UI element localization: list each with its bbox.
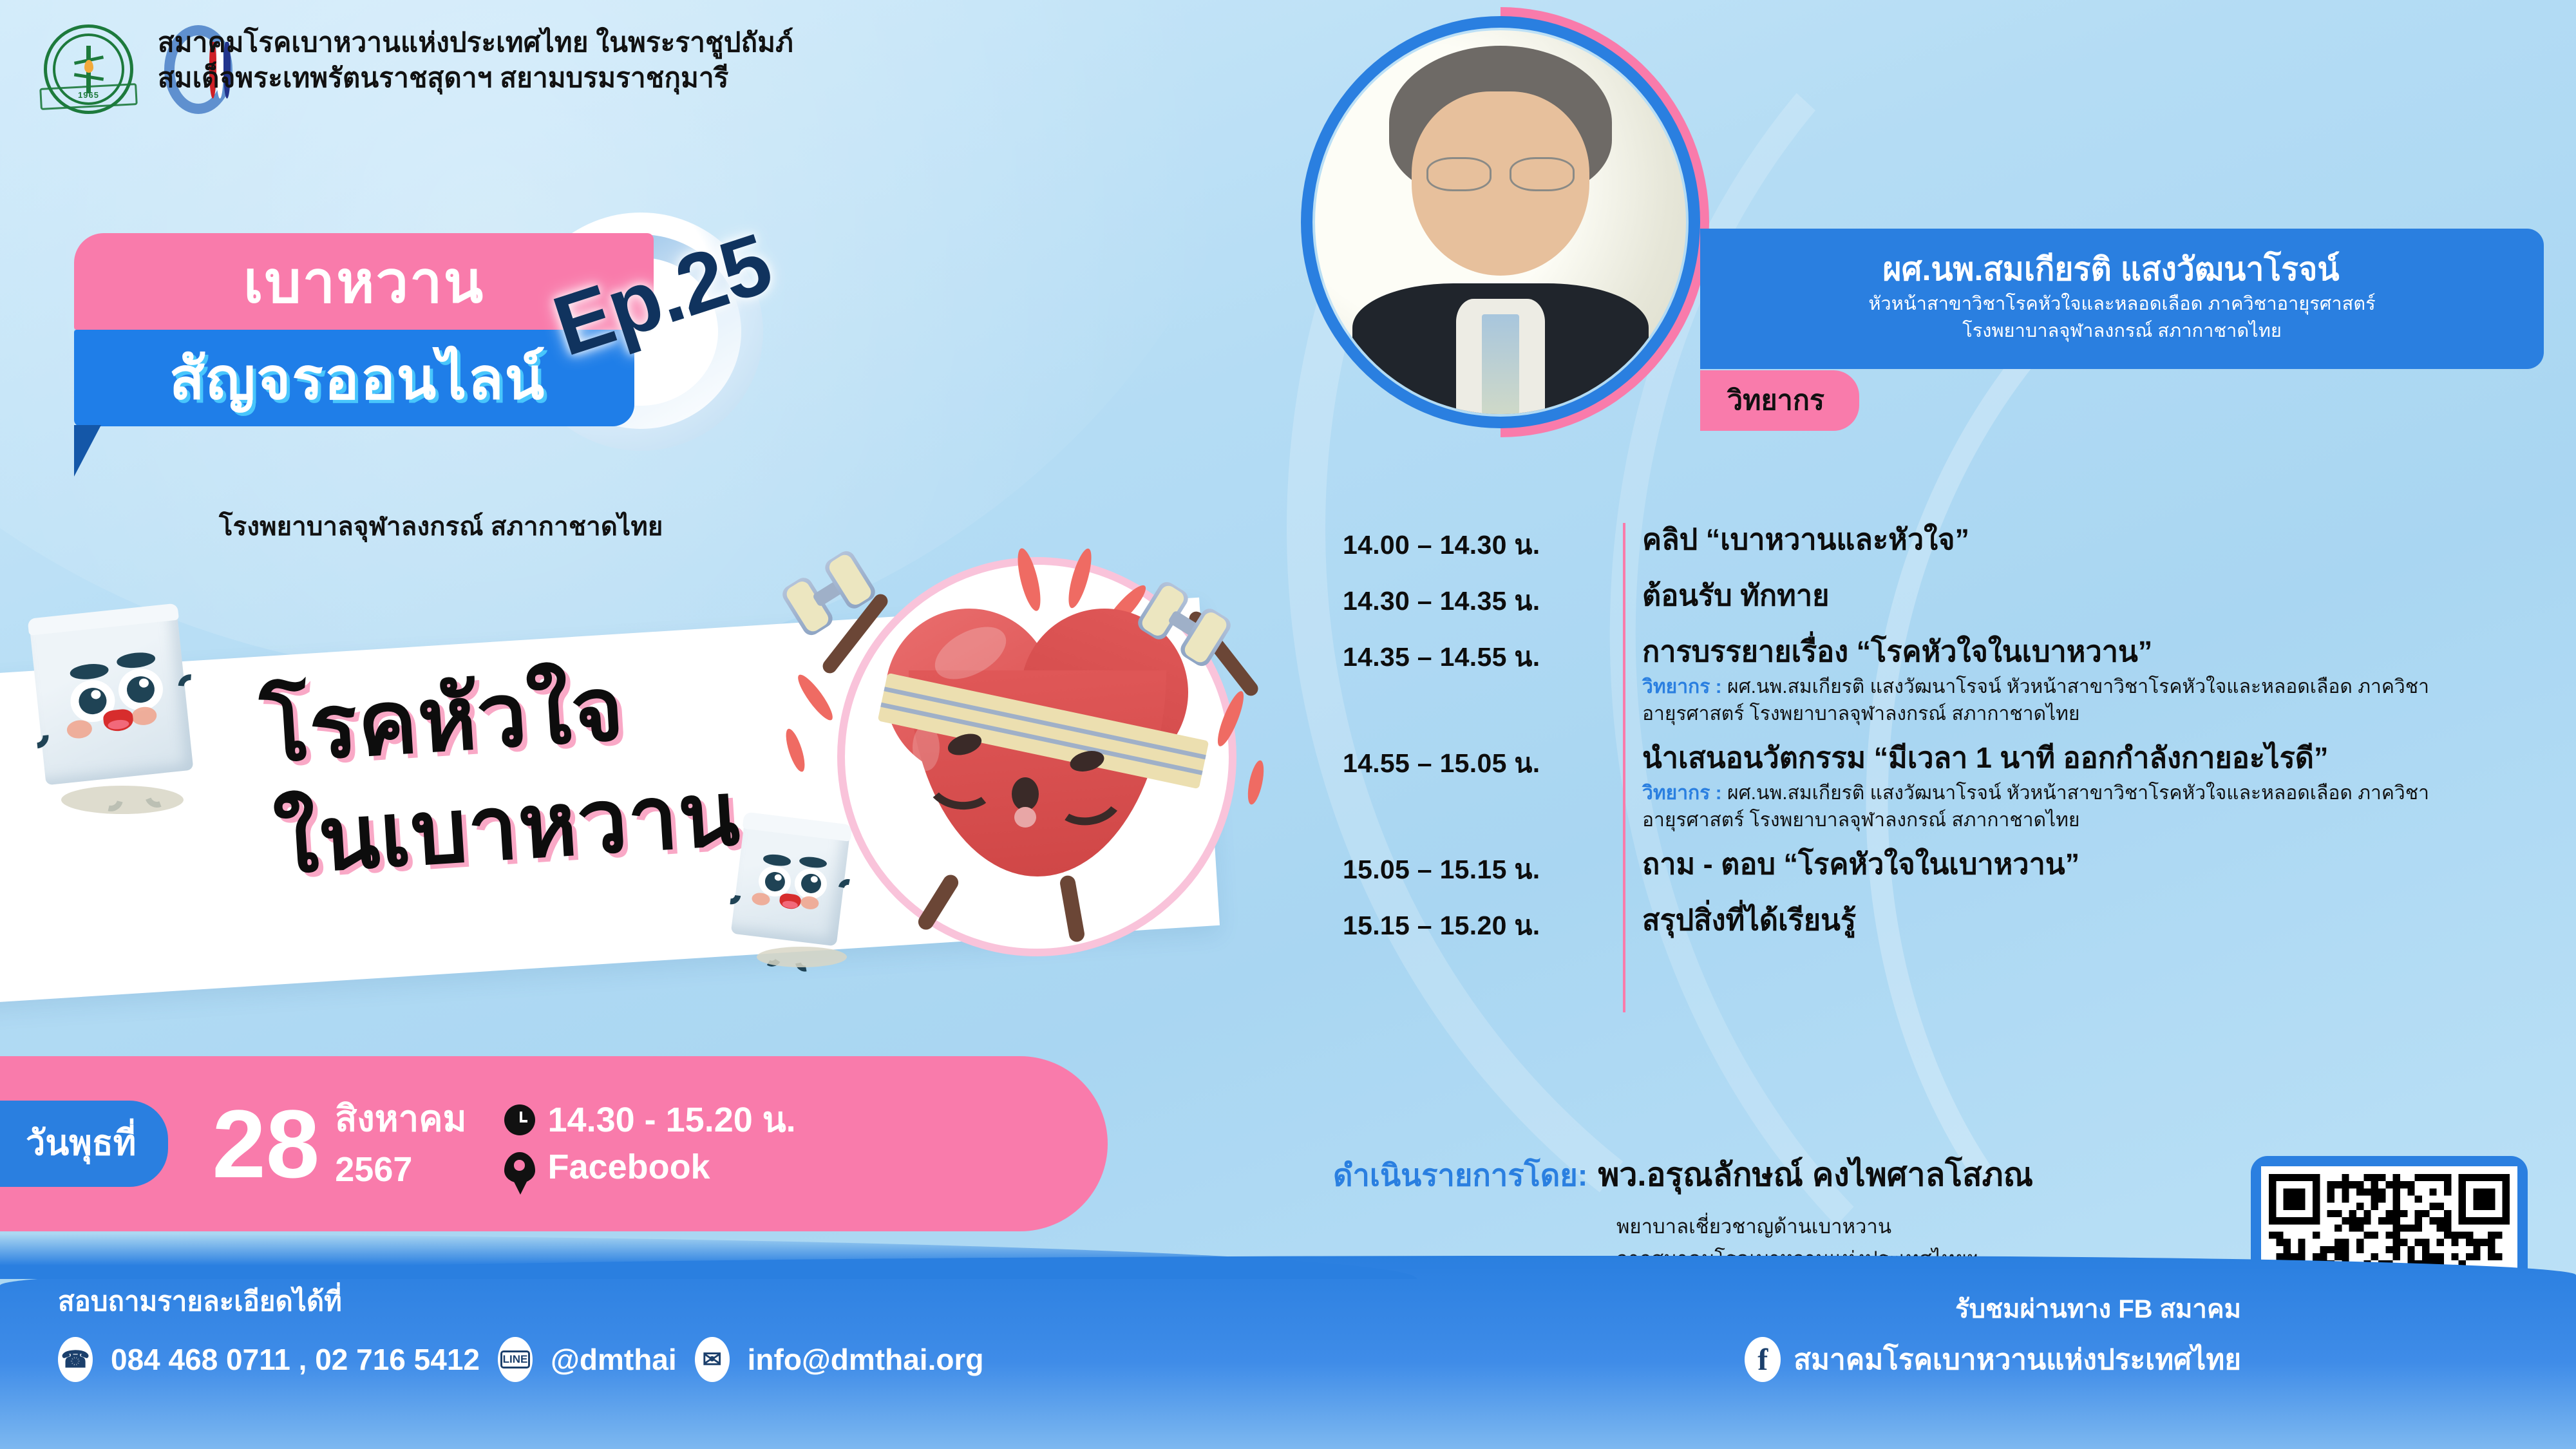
schedule-row: 15.05 – 15.15 น. ถาม - ตอบ “โรคหัวใจในเบ… — [1343, 846, 2489, 891]
event-day-number: 28 — [212, 1099, 319, 1188]
event-place: Facebook — [548, 1144, 710, 1191]
schedule-speaker-label: วิทยากร : — [1642, 676, 1722, 697]
contact-block: สอบถามรายละเอียดได้ที่ 084 468 0711 , 02… — [58, 1280, 983, 1382]
schedule-speaker-text: ผศ.นพ.สมเกียรติ แสงวัฒนาโรจน์ หัวหน้าสาข… — [1642, 676, 2429, 725]
watch-block: รับชมผ่านทาง FB สมาคม สมาคมโรคเบาหวานแห่… — [1745, 1288, 2241, 1382]
speaker-info-box: ผศ.นพ.สมเกียรติ แสงวัฒนาโรจน์ หัวหน้าสาข… — [1700, 229, 2544, 369]
schedule-time: 14.00 – 14.30 น. — [1343, 522, 1610, 566]
schedule-title: การบรรยายเรื่อง “โรคหัวใจในเบาหวาน” — [1642, 634, 2489, 670]
contact-phone[interactable]: 084 468 0711 , 02 716 5412 — [111, 1342, 480, 1377]
program-banner: เบาหวาน สัญจรออนไลน์ Ep.25 — [74, 233, 757, 446]
organization-line-2: สมเด็จพระเทพรัตนราชสุดาฯ สยามบรมราชกุมาร… — [158, 60, 793, 95]
contact-label: สอบถามรายละเอียดได้ที่ — [58, 1280, 983, 1323]
schedule-title: ถาม - ตอบ “โรคหัวใจในเบาหวาน” — [1642, 846, 2489, 882]
heart-character — [885, 609, 1188, 885]
schedule-row: 14.30 – 14.35 น. ต้อนรับ ทักทาย — [1343, 578, 2489, 622]
schedule-list: 14.00 – 14.30 น. คลิป “เบาหวานและหัวใจ” … — [1343, 522, 2489, 958]
sugar-cube-mascot-large — [30, 610, 194, 786]
event-meta: 14.30 - 15.20 น. Facebook — [504, 1097, 796, 1191]
schedule-title: นำเสนอนวัตกรรม “มีเวลา 1 นาที ออกกำลังกา… — [1642, 740, 2489, 776]
event-date-bar: วันพุธที่ 28 สิงหาคม 2567 14.30 - 15.20 … — [0, 1056, 1108, 1231]
event-month: สิงหาคม — [335, 1098, 466, 1139]
schedule-time: 14.55 – 15.05 น. — [1343, 740, 1610, 784]
speaker-badge: วิทยากร — [1700, 370, 1859, 431]
sugar-cube-shadow — [61, 786, 184, 814]
clock-icon — [504, 1104, 535, 1135]
location-pin-icon — [504, 1152, 535, 1183]
event-month-year: สิงหาคม 2567 — [335, 1095, 466, 1193]
organization-title: สมาคมโรคเบาหวานแห่งประเทศไทย ในพระราชูปถ… — [158, 24, 793, 96]
moderator-name: พว.อรุณลักษณ์ คงไพศาลโสภณ — [1598, 1150, 2033, 1200]
poster-canvas: 1965 สมาคมโรคเบาหวานแห่งประเทศไทย ในพระร… — [0, 0, 2576, 1449]
schedule-title: คลิป “เบาหวานและหัวใจ” — [1642, 522, 2489, 558]
avatar — [1301, 16, 1700, 428]
schedule-speaker-text: ผศ.นพ.สมเกียรติ แสงวัฒนาโรจน์ หัวหน้าสาข… — [1642, 782, 2429, 831]
schedule-title: สรุปสิ่งที่ได้เรียนรู้ — [1642, 902, 2489, 938]
event-day-label: วันพุธที่ — [0, 1101, 168, 1187]
schedule-time: 15.05 – 15.15 น. — [1343, 846, 1610, 891]
contact-email[interactable]: info@dmthai.org — [748, 1342, 984, 1377]
footer-bar: สอบถามรายละเอียดได้ที่ 084 468 0711 , 02… — [0, 1256, 2576, 1449]
schedule-time: 15.15 – 15.20 น. — [1343, 902, 1610, 947]
heart-mascot — [770, 541, 1285, 1030]
speaker-role: หัวหน้าสาขาวิชาโรคหัวใจและหลอดเลือด ภาคว… — [1716, 290, 2528, 345]
schedule-title: ต้อนรับ ทักทาย — [1642, 578, 2489, 614]
banner-tail — [74, 425, 101, 477]
event-time: 14.30 - 15.20 น. — [548, 1097, 796, 1144]
schedule-speaker-label: วิทยากร : — [1642, 782, 1722, 804]
speaker-role-line-1: หัวหน้าสาขาวิชาโรคหัวใจและหลอดเลือด ภาคว… — [1716, 290, 2528, 317]
schedule-speaker-note: วิทยากร : ผศ.นพ.สมเกียรติ แสงวัฒนาโรจน์ … — [1642, 674, 2489, 728]
schedule-row: 15.15 – 15.20 น. สรุปสิ่งที่ได้เรียนรู้ — [1343, 902, 2489, 947]
banner-band-blue: สัญจรออนไลน์ — [74, 330, 634, 426]
schedule-time: 14.30 – 14.35 น. — [1343, 578, 1610, 622]
facebook-page-name[interactable]: สมาคมโรคเบาหวานแห่งประเทศไทย — [1794, 1337, 2241, 1382]
diabetes-association-of-thailand-logo: 1965 — [39, 19, 138, 119]
mail-icon — [695, 1337, 730, 1382]
facebook-icon — [1745, 1337, 1781, 1382]
phone-icon — [58, 1337, 93, 1382]
banner-subtitle: โรงพยาบาลจุฬาลงกรณ์ สภากาชาดไทย — [219, 506, 663, 547]
schedule-time: 14.35 – 14.55 น. — [1343, 634, 1610, 678]
speaker-role-line-2: โรงพยาบาลจุฬาลงกรณ์ สภากาชาดไทย — [1716, 317, 2528, 345]
line-icon — [498, 1337, 533, 1382]
schedule-speaker-note: วิทยากร : ผศ.นพ.สมเกียรติ แสงวัฒนาโรจน์ … — [1642, 780, 2489, 835]
organization-line-1: สมาคมโรคเบาหวานแห่งประเทศไทย ในพระราชูปถ… — [158, 24, 793, 60]
schedule-row: 14.55 – 15.05 น. นำเสนอนวัตกรรม “มีเวลา … — [1343, 740, 2489, 835]
banner-line-2: สัญจรออนไลน์ — [74, 330, 634, 426]
schedule-row: 14.00 – 14.30 น. คลิป “เบาหวานและหัวใจ” — [1343, 522, 2489, 566]
contact-line-id[interactable]: @dmthai — [551, 1342, 677, 1377]
watch-label: รับชมผ่านทาง FB สมาคม — [1745, 1288, 2241, 1329]
schedule-row: 14.35 – 14.55 น. การบรรยายเรื่อง “โรคหัว… — [1343, 634, 2489, 728]
moderator-label: ดำเนินรายการโดย: — [1333, 1151, 1587, 1199]
event-year: 2567 — [335, 1147, 466, 1192]
speaker-name: ผศ.นพ.สมเกียรติ แสงวัฒนาโรจน์ — [1700, 244, 2522, 295]
